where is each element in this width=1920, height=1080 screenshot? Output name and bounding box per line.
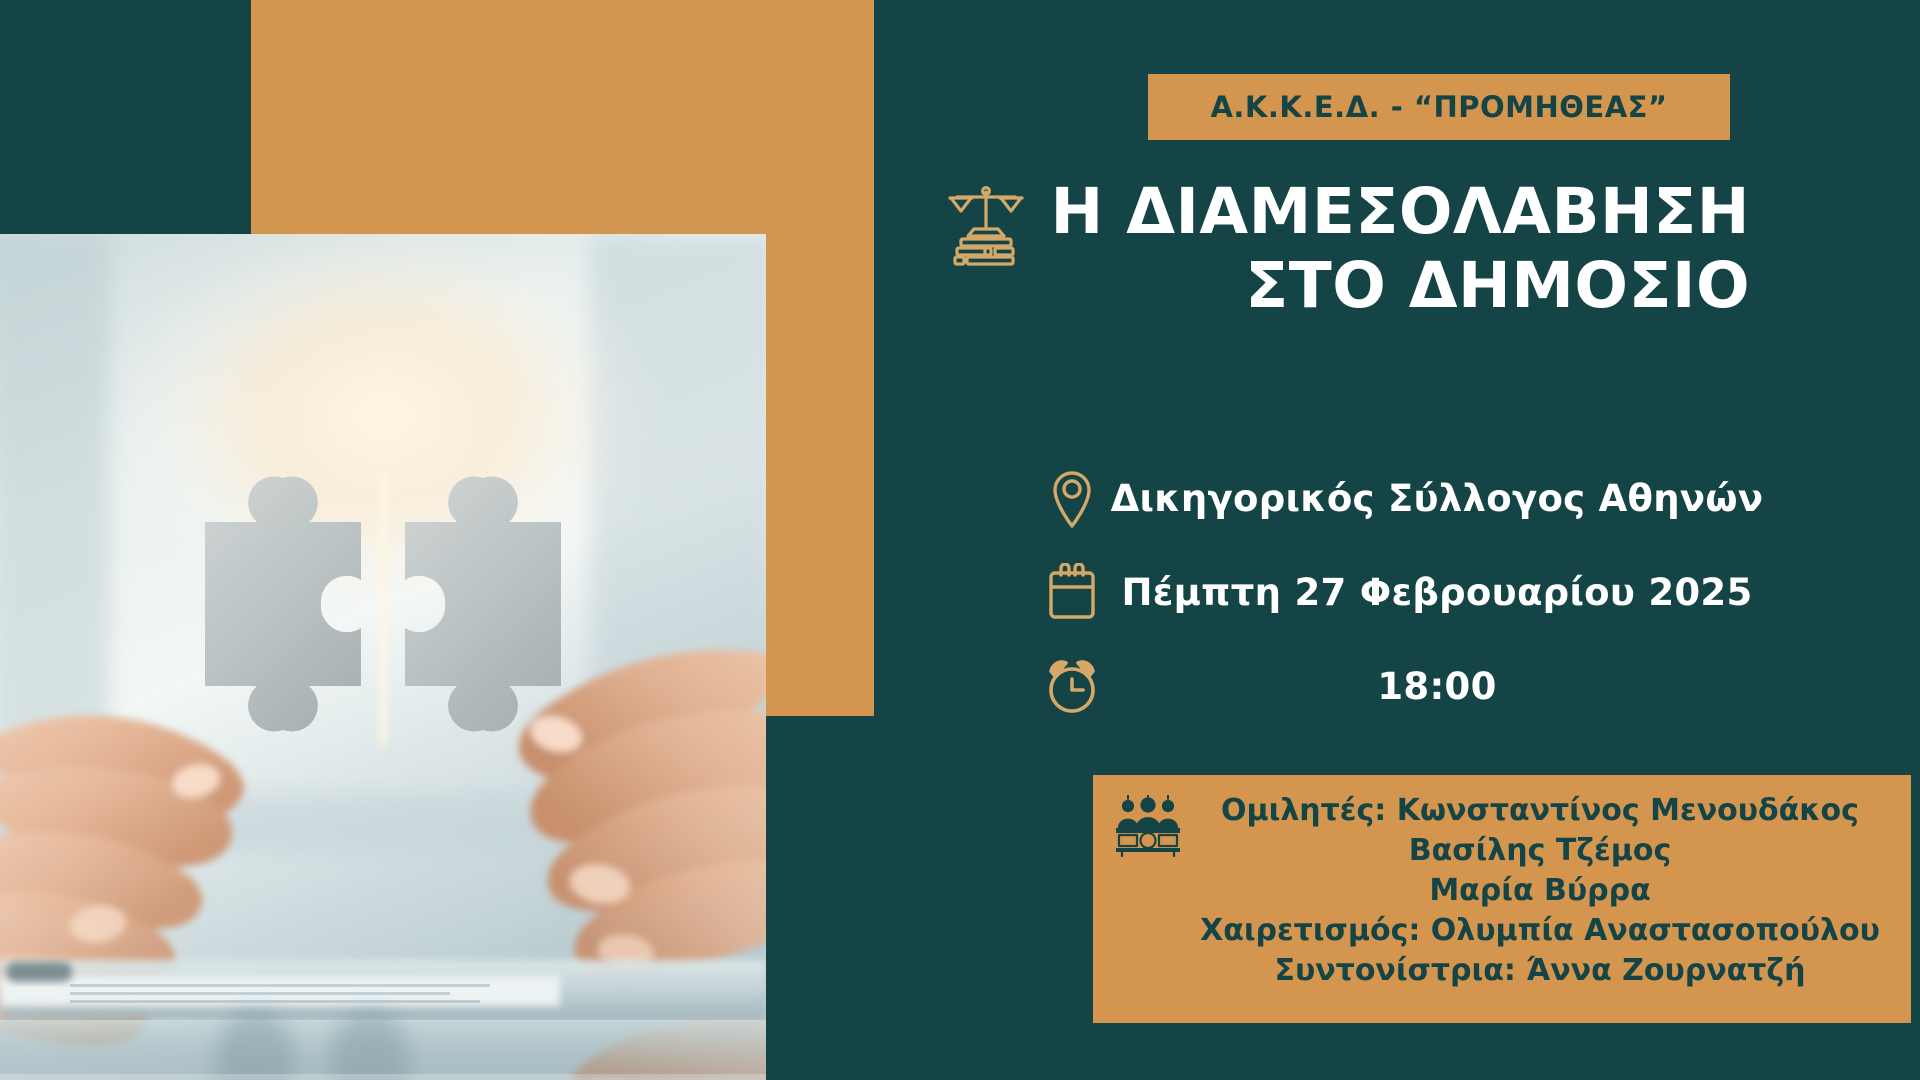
greeting-line: Χαιρετισμός: Ολυμπία Αναστασοπούλου	[1195, 911, 1885, 951]
time-text: 18:00	[1104, 665, 1770, 708]
alarm-clock-icon	[1040, 650, 1104, 722]
venue-row: Δικηγορικός Σύλλογος Αθηνών	[1040, 462, 1770, 534]
panel-speakers-icon	[1115, 795, 1181, 857]
calendar-icon	[1040, 556, 1104, 628]
title-line-2: ΣΤΟ ΔΗΜΟΣΙΟ	[1051, 249, 1750, 323]
hero-photo	[0, 234, 766, 1080]
date-row: Πέμπτη 27 Φεβρουαρίου 2025	[1040, 556, 1770, 628]
moderator-line: Συντονίστρια: Άννα Ζουρνατζή	[1195, 951, 1885, 991]
organization-name: Α.Κ.Κ.Ε.Δ. - “ΠΡΟΜΗΘΕΑΣ”	[1210, 90, 1667, 124]
scales-of-justice-icon	[947, 183, 1025, 267]
speaker-line: Βασίλης Τζέμος	[1195, 831, 1885, 871]
date-text: Πέμπτη 27 Φεβρουαρίου 2025	[1104, 571, 1770, 614]
puzzle-hands-photo-illustration	[0, 234, 766, 1080]
event-details: Δικηγορικός Σύλλογος Αθηνών Πέμπτη 27 Φε…	[1040, 462, 1770, 744]
time-row: 18:00	[1040, 650, 1770, 722]
speaker-line: Ομιλητές: Κωνσταντίνος Μενουδάκος	[1195, 791, 1885, 831]
title-line-1: Η ΔΙΑΜΕΣΟΛΑΒΗΣΗ	[1051, 175, 1750, 249]
title-block: Η ΔΙΑΜΕΣΟΛΑΒΗΣΗ ΣΤΟ ΔΗΜΟΣΙΟ	[920, 175, 1750, 324]
event-poster: Α.Κ.Κ.Ε.Δ. - “ΠΡΟΜΗΘΕΑΣ”	[0, 0, 1920, 1080]
speakers-panel: Ομιλητές: Κωνσταντίνος Μενουδάκος Βασίλη…	[1093, 775, 1911, 1023]
speaker-line: Μαρία Βύρρα	[1195, 871, 1885, 911]
location-pin-icon	[1040, 462, 1104, 534]
venue-text: Δικηγορικός Σύλλογος Αθηνών	[1104, 477, 1770, 520]
organization-badge: Α.Κ.Κ.Ε.Δ. - “ΠΡΟΜΗΘΕΑΣ”	[1148, 74, 1730, 140]
